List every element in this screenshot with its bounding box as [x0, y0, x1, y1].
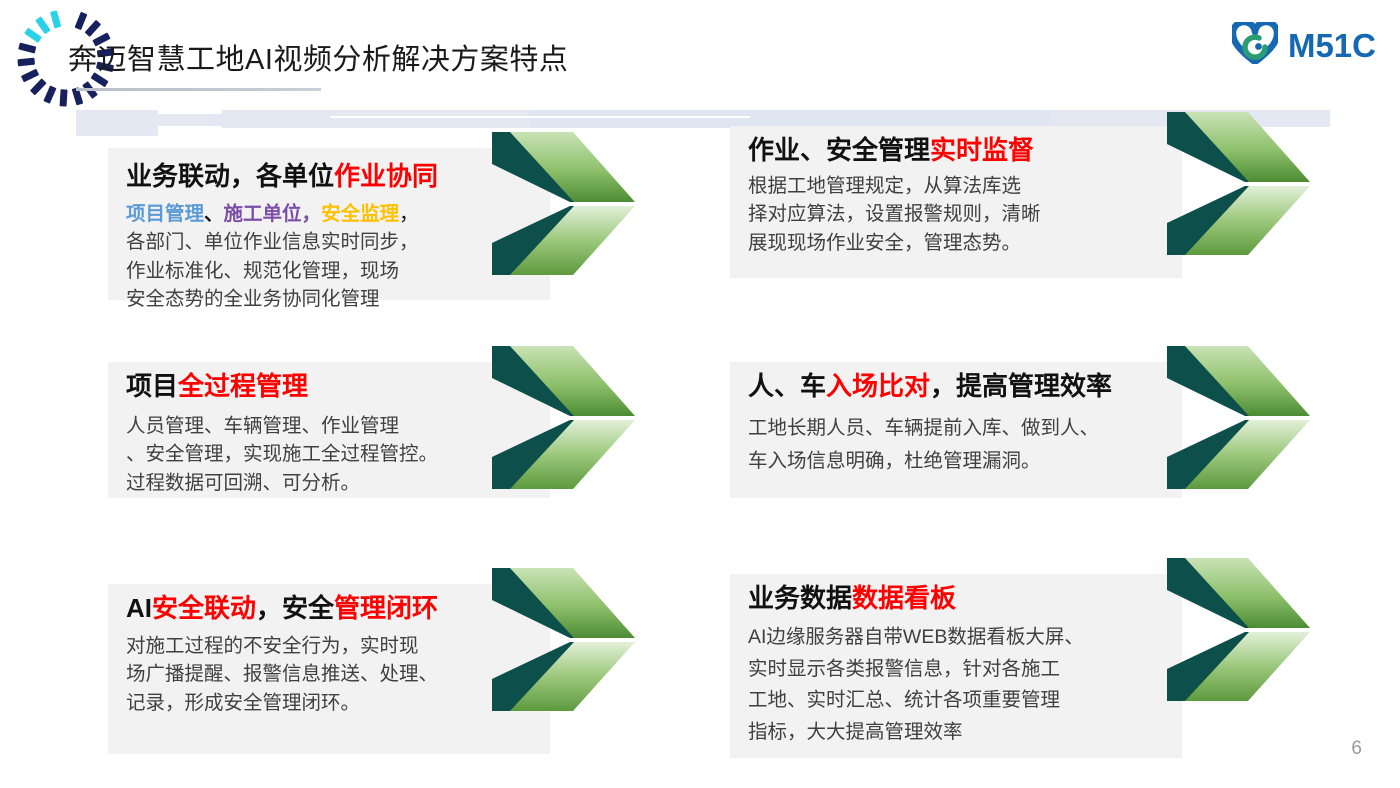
brand-logo: M51C: [1232, 22, 1376, 69]
feature-card-5-heading: AI安全联动，安全管理闭环: [126, 594, 438, 624]
feature-card-2-heading: 作业、安全管理实时监督: [748, 136, 1034, 166]
feature-card-1-line-1: 项目管理、施工单位，安全监理，: [126, 200, 526, 228]
feature-card-4-heading: 人、车入场比对，提高管理效率: [748, 372, 1112, 402]
feature-card-1-line-4: 安全态势的全业务协同化管理: [126, 285, 526, 313]
heart-spiral-icon: [1232, 22, 1278, 69]
band-segment: [150, 114, 230, 126]
feature-card-1-line-2: 各部门、单位作业信息实时同步，: [126, 228, 526, 256]
band-segment: [76, 110, 158, 136]
feature-card-6-body: AI边缘服务器自带WEB数据看板大屏、 实时显示各类报警信息，针对各施工 工地、…: [748, 622, 1172, 748]
chevron-arrow-1: [470, 118, 650, 288]
feature-card-6-heading: 业务数据数据看板: [748, 584, 956, 614]
feature-card-3-heading: 项目全过程管理: [126, 372, 308, 402]
feature-card-1-body: 项目管理、施工单位，安全监理， 各部门、单位作业信息实时同步， 作业标准化、规范…: [126, 200, 526, 313]
chevron-arrow-4: [1145, 332, 1325, 502]
chevron-arrow-3: [470, 332, 650, 502]
feature-card-4-body: 工地长期人员、车辆提前入库、做到人、 车入场信息明确，杜绝管理漏洞。: [748, 412, 1168, 478]
slide-root: 奔迈智慧工地AI视频分析解决方案特点 M51C 业务联动，各单位作业协同 项目管…: [0, 0, 1400, 788]
page-title: 奔迈智慧工地AI视频分析解决方案特点: [68, 36, 568, 78]
feature-card-4-line-2: 车入场信息明确，杜绝管理漏洞。: [748, 445, 1168, 478]
feature-card-2-line-1: 根据工地管理规定，从算法库选: [748, 172, 1158, 200]
feature-card-6-line-1: AI边缘服务器自带WEB数据看板大屏、: [748, 622, 1172, 654]
logo-wordmark: M51C: [1288, 27, 1376, 65]
feature-card-6-line-4: 指标，大大提高管理效率: [748, 717, 1172, 749]
feature-card-1-heading: 业务联动，各单位作业协同: [126, 162, 438, 192]
feature-card-6: 业务数据数据看板 AI边缘服务器自带WEB数据看板大屏、 实时显示各类报警信息，…: [730, 574, 1182, 758]
feature-card-2: 作业、安全管理实时监督 根据工地管理规定，从算法库选 择对应算法，设置报警规则，…: [730, 126, 1182, 278]
feature-card-1-line-3: 作业标准化、规范化管理，现场: [126, 257, 526, 285]
chevron-arrow-2: [1145, 98, 1325, 268]
feature-card-2-line-2: 择对应算法，设置报警规则，清晰: [748, 200, 1158, 228]
title-underline: [76, 88, 321, 91]
feature-card-4: 人、车入场比对，提高管理效率 工地长期人员、车辆提前入库、做到人、 车入场信息明…: [730, 362, 1182, 498]
feature-card-4-line-1: 工地长期人员、车辆提前入库、做到人、: [748, 412, 1168, 445]
chevron-arrow-5: [470, 554, 650, 724]
feature-card-6-line-2: 实时显示各类报警信息，针对各施工: [748, 654, 1172, 686]
feature-card-2-line-3: 展现现场作业安全，管理态势。: [748, 229, 1158, 257]
feature-card-2-body: 根据工地管理规定，从算法库选 择对应算法，设置报警规则，清晰 展现现场作业安全，…: [748, 172, 1158, 257]
chevron-arrow-6: [1145, 544, 1325, 714]
page-number: 6: [1351, 738, 1362, 760]
feature-card-6-line-3: 工地、实时汇总、统计各项重要管理: [748, 685, 1172, 717]
